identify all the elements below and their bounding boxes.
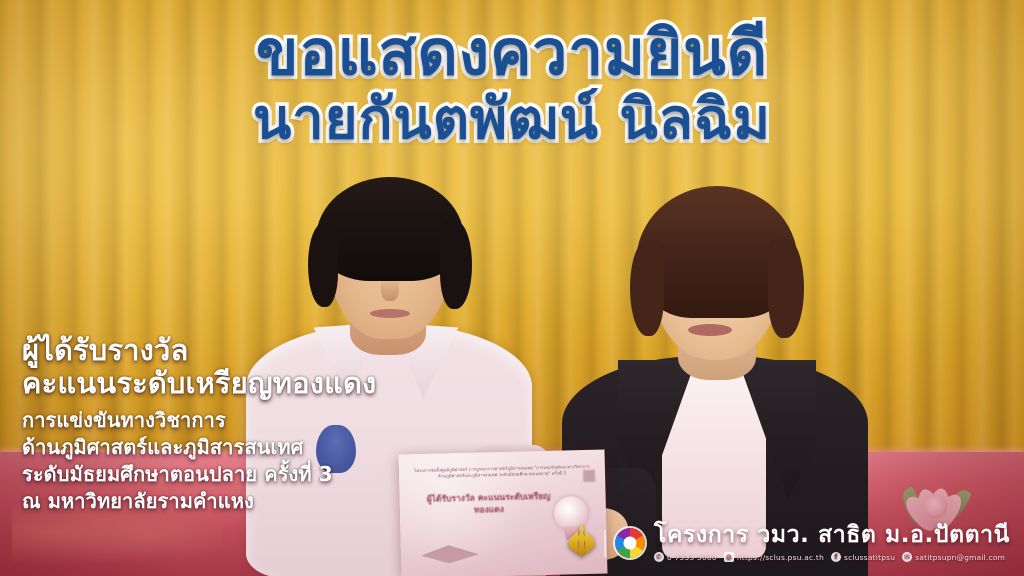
garuda-emblem-logo bbox=[568, 522, 595, 562]
psu-circular-logo bbox=[615, 528, 645, 558]
contact-website-text[interactable]: https://sclus.psu.ac.th bbox=[737, 553, 824, 562]
contact-website[interactable]: ◍ https://sclus.psu.ac.th bbox=[724, 552, 824, 562]
presenter-hair bbox=[636, 186, 798, 318]
footer-contact-list: ✆ 0 7333 5080 ◍ https://sclus.psu.ac.th … bbox=[654, 552, 1010, 562]
phone-icon: ✆ bbox=[654, 552, 664, 562]
globe-icon: ◍ bbox=[724, 552, 734, 562]
presenter-mouth bbox=[688, 324, 732, 336]
presenter-photo bbox=[566, 168, 866, 576]
contact-facebook[interactable]: f sclussatitpsu bbox=[831, 552, 895, 562]
contact-phone: ✆ 0 7333 5080 bbox=[654, 552, 717, 562]
award-detail-line: ระดับมัธยมศึกษาตอนปลาย ครั้งที่ 3 bbox=[22, 461, 542, 488]
award-detail-list: การแข่งขันทางวิชาการ ด้านภูมิศาสตร์และภู… bbox=[22, 407, 542, 515]
facebook-icon: f bbox=[831, 552, 841, 562]
garuda-wing-left-icon bbox=[568, 531, 578, 555]
student-hair bbox=[316, 177, 464, 281]
contact-facebook-text[interactable]: sclussatitpsu bbox=[844, 553, 895, 562]
award-title-line2: คะแนนระดับเหรียญทองแดง bbox=[22, 368, 542, 399]
award-text-block: ผู้ได้รับรางวัล คะแนนระดับเหรียญทองแดง ก… bbox=[22, 335, 542, 515]
certificate-corner-mark bbox=[583, 470, 595, 482]
contact-email[interactable]: ✉ satitpsupn@gmail.com bbox=[902, 552, 1005, 562]
award-detail-line: ณ มหาวิทยาลัยรามคำแหง bbox=[22, 488, 542, 515]
contact-email-text[interactable]: satitpsupn@gmail.com bbox=[915, 553, 1005, 562]
footer-text-block: โครงการ วมว. สาธิต ม.อ.ปัตตานี ✆ 0 7333 … bbox=[654, 522, 1010, 562]
student-mouth bbox=[370, 309, 410, 318]
contact-phone-text: 0 7333 5080 bbox=[667, 553, 717, 562]
award-detail-line: ด้านภูมิศาสตร์และภูมิสารสนเทศ bbox=[22, 434, 542, 461]
garuda-wing-right-icon bbox=[585, 531, 595, 555]
award-detail-line: การแข่งขันทางวิชาการ bbox=[22, 407, 542, 434]
award-title-line1: ผู้ได้รับรางวัล bbox=[22, 335, 542, 366]
congratulations-poster: โครงการจัดตั้งศูนย์ภูมิศาสตร์ การบูรณากา… bbox=[0, 0, 1024, 576]
email-icon: ✉ bbox=[902, 552, 912, 562]
logo-divider bbox=[604, 530, 606, 557]
footer-organization-name: โครงการ วมว. สาธิต ม.อ.ปัตตานี bbox=[654, 522, 1010, 549]
footer-branding-bar: โครงการ วมว. สาธิต ม.อ.ปัตตานี ✆ 0 7333 … bbox=[568, 522, 1010, 562]
